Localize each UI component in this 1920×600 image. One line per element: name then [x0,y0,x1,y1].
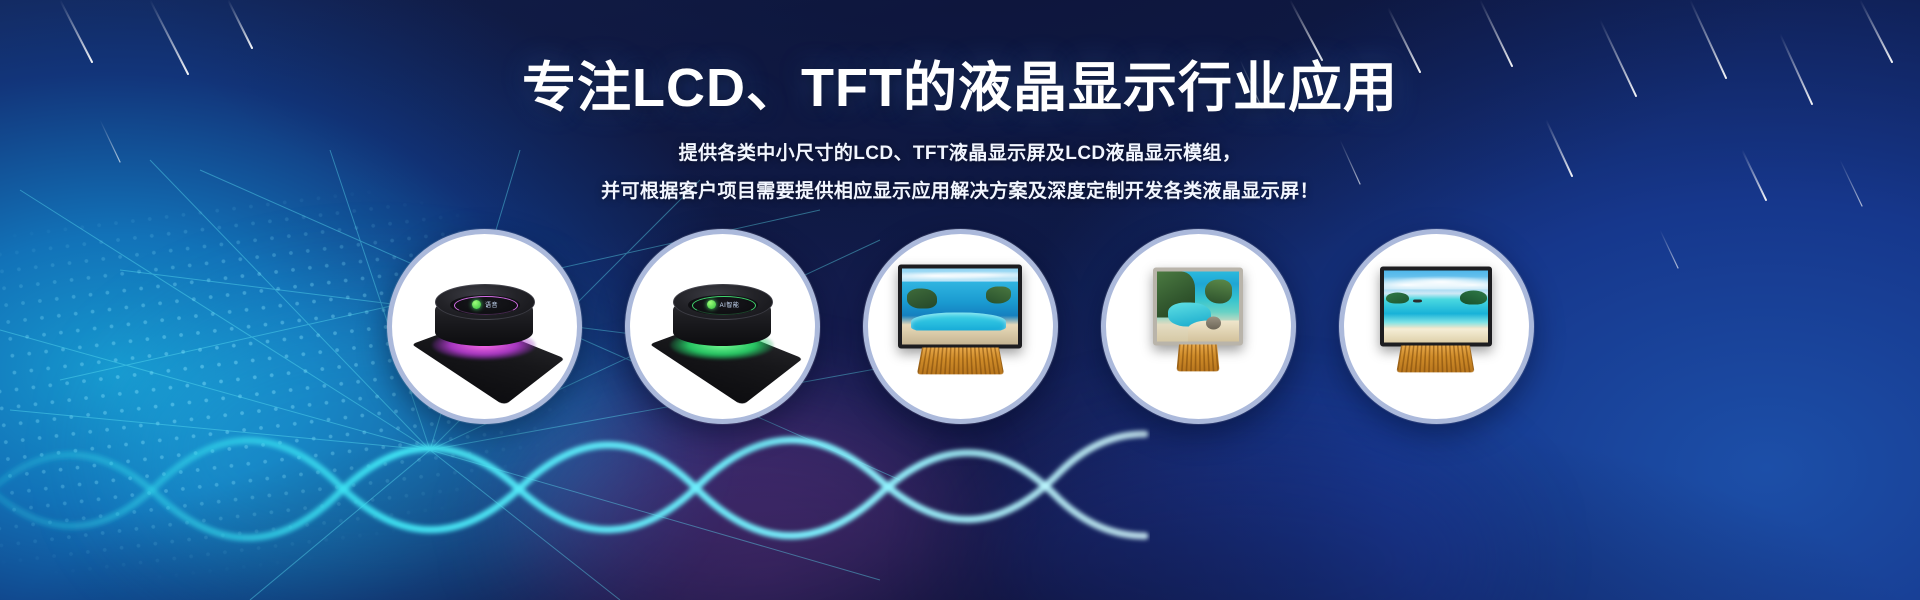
status-dot-icon [707,300,716,309]
scene-foliage-left [907,288,937,308]
product-image-lcd-beach [1344,234,1529,419]
glow-blue [980,430,1500,600]
product-circle-tft-lcd-panel-pool-scene[interactable] [863,229,1058,424]
lcd-screen-image [1384,271,1488,343]
scene-palm-right [1460,291,1487,305]
lcd-bezel [1380,267,1492,347]
glow-magenta [520,400,950,600]
product-circle-smart-round-speaker-green[interactable]: AI智能 [625,229,820,424]
scene-clouds [902,271,1018,280]
product-showcase-list: 语音 AI智能 [0,229,1920,424]
scene-boat [1413,299,1422,303]
puck-screen-label: AI智能 [720,300,740,309]
scene-clouds [1384,275,1488,289]
lcd-screen-image [902,269,1018,345]
scene-rock [1205,280,1233,304]
puck-screen-label: 语音 [485,300,498,309]
lcd-screen-image [1157,272,1239,342]
lcd-module [1153,268,1243,371]
device-puck: AI智能 [667,282,777,360]
lcd-bezel [1153,268,1243,346]
product-circle-tft-lcd-panel-coast-scene[interactable] [1101,229,1296,424]
product-circle-smart-round-speaker-purple[interactable]: 语音 [387,229,582,424]
device-puck: 语音 [429,282,539,360]
fpc-ribbon-cable [916,348,1003,375]
scene-foliage-right [986,287,1012,304]
puck-top-face: 语音 [435,284,535,320]
product-image-puck-purple: 语音 [392,234,577,419]
product-image-lcd-coast [1106,234,1291,419]
subtitle-line-1: 提供各类中小尺寸的LCD、TFT液晶显示屏及LCD液晶显示模组， [0,144,1920,163]
banner-copy: 专注LCD、TFT的液晶显示行业应用 提供各类中小尺寸的LCD、TFT液晶显示屏… [0,58,1920,201]
scene-shore [1384,329,1488,343]
puck-round-screen: AI智能 [688,295,758,315]
status-dot-icon [472,300,481,309]
page-title: 专注LCD、TFT的液晶显示行业应用 [0,58,1920,118]
fpc-ribbon-cable [1177,345,1220,372]
product-image-lcd-pool [868,234,1053,419]
scene-palm-left [1386,292,1409,304]
scene-deck [902,331,1018,345]
product-image-puck-green: AI智能 [630,234,815,419]
fpc-ribbon-cable [1397,346,1476,373]
scene-pool-water [911,313,1006,333]
subtitle-line-2: 并可根据客户项目需要提供相应显示应用解决方案及深度定制开发各类液晶显示屏！ [0,182,1920,201]
puck-round-screen: 语音 [450,295,520,315]
puck-top-face: AI智能 [673,284,773,320]
lcd-module [898,265,1022,374]
hero-banner: 专注LCD、TFT的液晶显示行业应用 提供各类中小尺寸的LCD、TFT液晶显示屏… [0,0,1920,600]
lcd-module [1380,267,1492,372]
product-circle-tft-lcd-panel-beach-scene[interactable] [1339,229,1534,424]
lcd-bezel [898,265,1022,349]
